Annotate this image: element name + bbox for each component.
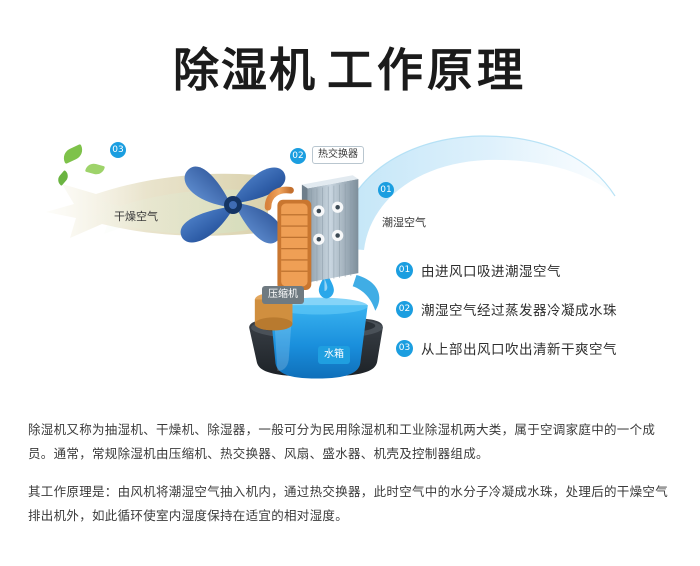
legend-item-03: 03 从上部出风口吹出清新干爽空气	[396, 338, 696, 358]
paragraph-2: 其工作原理是：由风机将潮湿空气抽入机内，通过热交换器，此时空气中的水分子冷凝成水…	[28, 480, 676, 528]
marker-number-03: 03	[110, 142, 126, 158]
legend-text-01: 由进风口吸进潮湿空气	[421, 260, 561, 280]
paragraph-1: 除湿机又称为抽湿机、干燥机、除湿器，一般可分为民用除湿机和工业除湿机两大类，属于…	[28, 418, 676, 466]
dehumidifier-unit-icon	[236, 160, 396, 390]
compressor-label: 压缩机	[262, 286, 304, 304]
title-main: 除湿机	[173, 43, 317, 97]
dry-air-label: 干燥空气	[110, 208, 158, 224]
legend-number-01: 01	[396, 262, 413, 279]
legend-list: 01 由进风口吸进潮湿空气 02 潮湿空气经过蒸发器冷凝成水珠 03 从上部出风…	[396, 260, 696, 377]
legend-text-03: 从上部出风口吹出清新干爽空气	[421, 338, 617, 358]
page-root: 除湿机工作原理	[0, 0, 700, 566]
humid-air-label: 潮湿空气	[378, 214, 426, 230]
water-tank-label: 水箱	[318, 346, 350, 364]
legend-number-03: 03	[396, 340, 413, 357]
heat-exchanger-marker: 02	[290, 148, 306, 164]
legend-text-02: 潮湿空气经过蒸发器冷凝成水珠	[421, 299, 617, 319]
marker-number-01: 01	[378, 182, 394, 198]
legend-number-02: 02	[396, 301, 413, 318]
dry-air-label-text: 干燥空气	[114, 210, 158, 223]
legend-item-02: 02 潮湿空气经过蒸发器冷凝成水珠	[396, 299, 696, 319]
title-sub: 工作原理	[327, 43, 527, 97]
humid-air-label-text: 潮湿空气	[382, 216, 426, 229]
page-title: 除湿机工作原理	[0, 34, 700, 100]
heat-exchanger-label: 热交换器	[312, 146, 364, 164]
legend-item-01: 01 由进风口吸进潮湿空气	[396, 260, 696, 280]
humid-air-marker: 01	[378, 182, 394, 198]
description-body: 除湿机又称为抽湿机、干燥机、除湿器，一般可分为民用除湿机和工业除湿机两大类，属于…	[28, 418, 676, 528]
marker-03-top: 03	[110, 142, 126, 158]
marker-number-02: 02	[290, 148, 306, 164]
diagram-illustration: 03 干燥空气	[0, 120, 700, 400]
